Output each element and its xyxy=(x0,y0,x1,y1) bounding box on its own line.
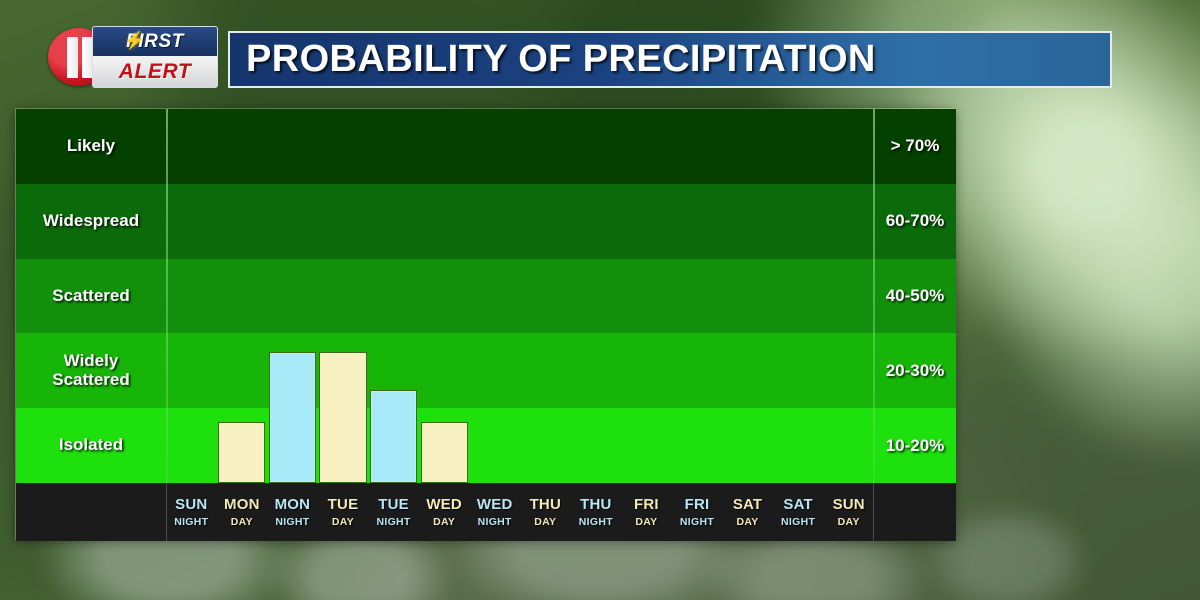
tick-period-label: DAY xyxy=(332,516,354,528)
tick-day-label: TUE xyxy=(378,496,409,513)
tick-day-label: FRI xyxy=(634,496,659,513)
page-title: PROBABILITY OF PRECIPITATION xyxy=(230,38,876,81)
band-label: Isolated xyxy=(16,408,166,483)
x-axis-tick: SUNNIGHT xyxy=(166,483,217,541)
x-axis-tick: WEDNIGHT xyxy=(469,483,520,541)
station-logo: FIRST ⚡ ALERT xyxy=(48,26,218,88)
x-axis-tick: SUNDAY xyxy=(823,483,874,541)
band-label: WidelyScattered xyxy=(16,333,166,408)
alert-label: ALERT xyxy=(119,60,192,84)
tick-day-label: THU xyxy=(580,496,611,513)
title-bar: PROBABILITY OF PRECIPITATION xyxy=(228,31,1112,88)
tick-day-label: SAT xyxy=(733,496,763,513)
x-axis-tick: WEDDAY xyxy=(419,483,470,541)
tick-period-label: NIGHT xyxy=(680,516,714,528)
x-axis-tick: SATNIGHT xyxy=(773,483,824,541)
first-alert-badge: FIRST ⚡ ALERT xyxy=(92,26,218,88)
tick-day-label: WED xyxy=(426,496,462,513)
band-label: Scattered xyxy=(16,259,166,334)
lightning-bolt-icon: ⚡ xyxy=(124,32,145,49)
band-percent: 20-30% xyxy=(874,333,956,408)
tick-day-label: SUN xyxy=(175,496,207,513)
x-axis-tick: THUDAY xyxy=(520,483,571,541)
alert-badge-row: ALERT xyxy=(92,56,218,88)
band-percent: 10-20% xyxy=(874,408,956,483)
tick-day-label: WED xyxy=(477,496,513,513)
tick-period-label: DAY xyxy=(635,516,657,528)
tick-period-label: DAY xyxy=(433,516,455,528)
x-axis-tick: TUEDAY xyxy=(318,483,369,541)
precipitation-chart-panel: Likely> 70%Widespread60-70%Scattered40-5… xyxy=(15,108,955,540)
precipitation-bar xyxy=(319,352,366,483)
band-percent: > 70% xyxy=(874,109,956,184)
tick-day-label: TUE xyxy=(328,496,359,513)
band-percent: 40-50% xyxy=(874,259,956,334)
first-badge-row: FIRST ⚡ xyxy=(92,26,218,57)
tick-period-label: DAY xyxy=(838,516,860,528)
x-axis-tick: SATDAY xyxy=(722,483,773,541)
header: FIRST ⚡ ALERT PROBABILITY OF PRECIPITATI… xyxy=(0,0,1200,100)
x-axis-tick: FRIDAY xyxy=(621,483,672,541)
x-axis-tick: THUNIGHT xyxy=(571,483,622,541)
bar-plot-area xyxy=(166,109,874,483)
band-label: Widespread xyxy=(16,184,166,259)
precipitation-bar xyxy=(370,390,417,484)
tick-day-label: SUN xyxy=(833,496,865,513)
tick-period-label: NIGHT xyxy=(579,516,613,528)
band-percent: 60-70% xyxy=(874,184,956,259)
tick-period-label: NIGHT xyxy=(781,516,815,528)
tick-period-label: DAY xyxy=(231,516,253,528)
x-axis-ticks: SUNNIGHTMONDAYMONNIGHTTUEDAYTUENIGHTWEDD… xyxy=(166,483,874,541)
axis-right-divider xyxy=(873,109,875,483)
precipitation-bar xyxy=(218,422,265,483)
tick-day-label: MON xyxy=(275,496,311,513)
tick-day-label: MON xyxy=(224,496,260,513)
x-axis-tick: TUENIGHT xyxy=(368,483,419,541)
precipitation-bar xyxy=(421,422,468,483)
x-axis-tick: MONDAY xyxy=(217,483,268,541)
tick-period-label: DAY xyxy=(737,516,759,528)
tick-day-label: THU xyxy=(530,496,561,513)
tick-period-label: NIGHT xyxy=(275,516,309,528)
tick-period-label: DAY xyxy=(534,516,556,528)
tick-day-label: SAT xyxy=(783,496,813,513)
band-label: Likely xyxy=(16,109,166,184)
tick-day-label: FRI xyxy=(685,496,710,513)
tick-period-label: NIGHT xyxy=(376,516,410,528)
tick-period-label: NIGHT xyxy=(478,516,512,528)
axis-left-divider xyxy=(166,109,168,483)
x-axis-tick: MONNIGHT xyxy=(267,483,318,541)
x-axis-tick: FRINIGHT xyxy=(672,483,723,541)
tick-period-label: NIGHT xyxy=(174,516,208,528)
x-axis-strip: SUNNIGHTMONDAYMONNIGHTTUEDAYTUENIGHTWEDD… xyxy=(16,483,956,541)
precipitation-bar xyxy=(269,352,316,483)
